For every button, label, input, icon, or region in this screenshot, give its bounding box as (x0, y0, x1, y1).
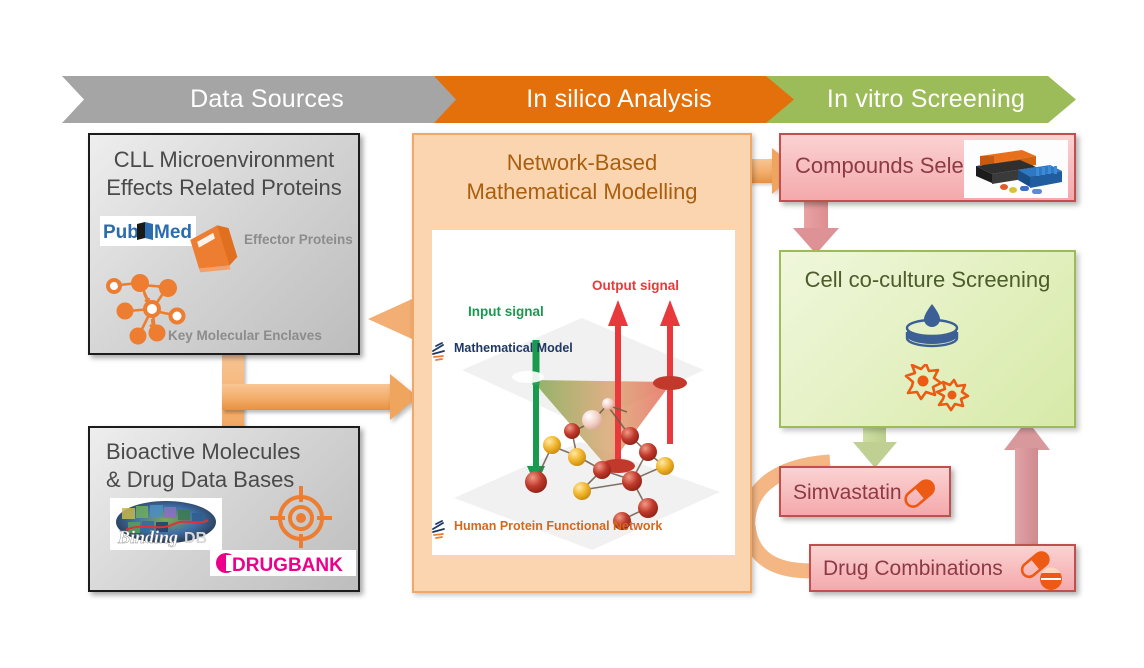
label-key-molecular-enclaves: Key Molecular Enclaves (168, 328, 322, 343)
model-title-line1: Network-Based (414, 148, 750, 177)
pubmed-wordmark: Pub Med (102, 218, 194, 244)
network-model-illustration: Input signal Output signal Mathematical … (432, 230, 735, 555)
svg-text:Pub: Pub (103, 222, 139, 243)
pubmed-logo: Pub Med (100, 216, 196, 246)
box-bioactive-molecules-databases[interactable]: Bioactive Molecules & Drug Data Bases (88, 426, 360, 592)
model-title-line2: Mathematical Modelling (414, 177, 750, 206)
proteins-title-line2: Effects Related Proteins (94, 174, 354, 202)
svg-text:Med: Med (154, 222, 192, 243)
box-simvastatin[interactable]: Simvastatin (779, 466, 951, 517)
svg-text:DRUGBANK: DRUGBANK (232, 555, 343, 576)
microplate-rack-photo (964, 140, 1068, 198)
burst-icon-mathematical-model (430, 340, 452, 362)
banner-label-data-sources: Data Sources (180, 85, 344, 114)
banner-in-silico-analysis: In silico Analysis (434, 76, 794, 123)
box-drug-combinations[interactable]: Drug Combinations (809, 544, 1076, 592)
label-cell-coculture: Cell co-culture Screening (781, 267, 1074, 293)
proteins-title-line1: CLL Microenvironment (94, 146, 354, 174)
box-compounds-selected[interactable]: Compounds Selected (779, 133, 1076, 202)
label-protein-network: Human Protein Functional Network (454, 519, 662, 533)
label-input-signal: Input signal (468, 304, 544, 319)
box-network-based-modelling[interactable]: Network-Based Mathematical Modelling (412, 133, 752, 593)
banner-in-vitro-screening: In vitro Screening (766, 76, 1076, 123)
capsule-and-tablet-icon (1018, 550, 1064, 590)
target-crosshair-icon (268, 484, 334, 550)
banner-label-in-vitro: In vitro Screening (817, 85, 1025, 114)
burst-icon-protein-network (430, 518, 452, 540)
label-effector-proteins: Effector Proteins (244, 232, 353, 247)
label-simvastatin: Simvastatin (793, 481, 902, 505)
label-output-signal: Output signal (592, 278, 679, 293)
drugbank-logo: DRUGBANK (210, 550, 356, 576)
label-drug-combinations: Drug Combinations (823, 557, 1003, 581)
petri-dish-droplet-icon (899, 302, 965, 348)
bindingdb-logo: Binding DB (110, 498, 222, 550)
svg-text:DB: DB (184, 530, 207, 547)
banner-label-in-silico: In silico Analysis (516, 85, 712, 114)
svg-text:Binding: Binding (117, 527, 178, 547)
arrow-drugcombinations-to-coculture (1004, 420, 1050, 555)
capsule-pill-icon (901, 477, 939, 511)
book-icon (188, 223, 242, 275)
banner-data-sources: Data Sources (62, 76, 462, 123)
diagram-canvas: Data Sources In silico Analysis In vitro… (0, 0, 1144, 668)
label-mathematical-model: Mathematical Model (454, 341, 573, 355)
box-cell-coculture-screening[interactable]: Cell co-culture Screening (779, 250, 1076, 428)
box-cll-microenvironment-proteins[interactable]: CLL Microenvironment Effects Related Pro… (88, 133, 360, 355)
burst-cells-icon (903, 364, 979, 418)
databases-title-line1: Bioactive Molecules (106, 438, 358, 466)
